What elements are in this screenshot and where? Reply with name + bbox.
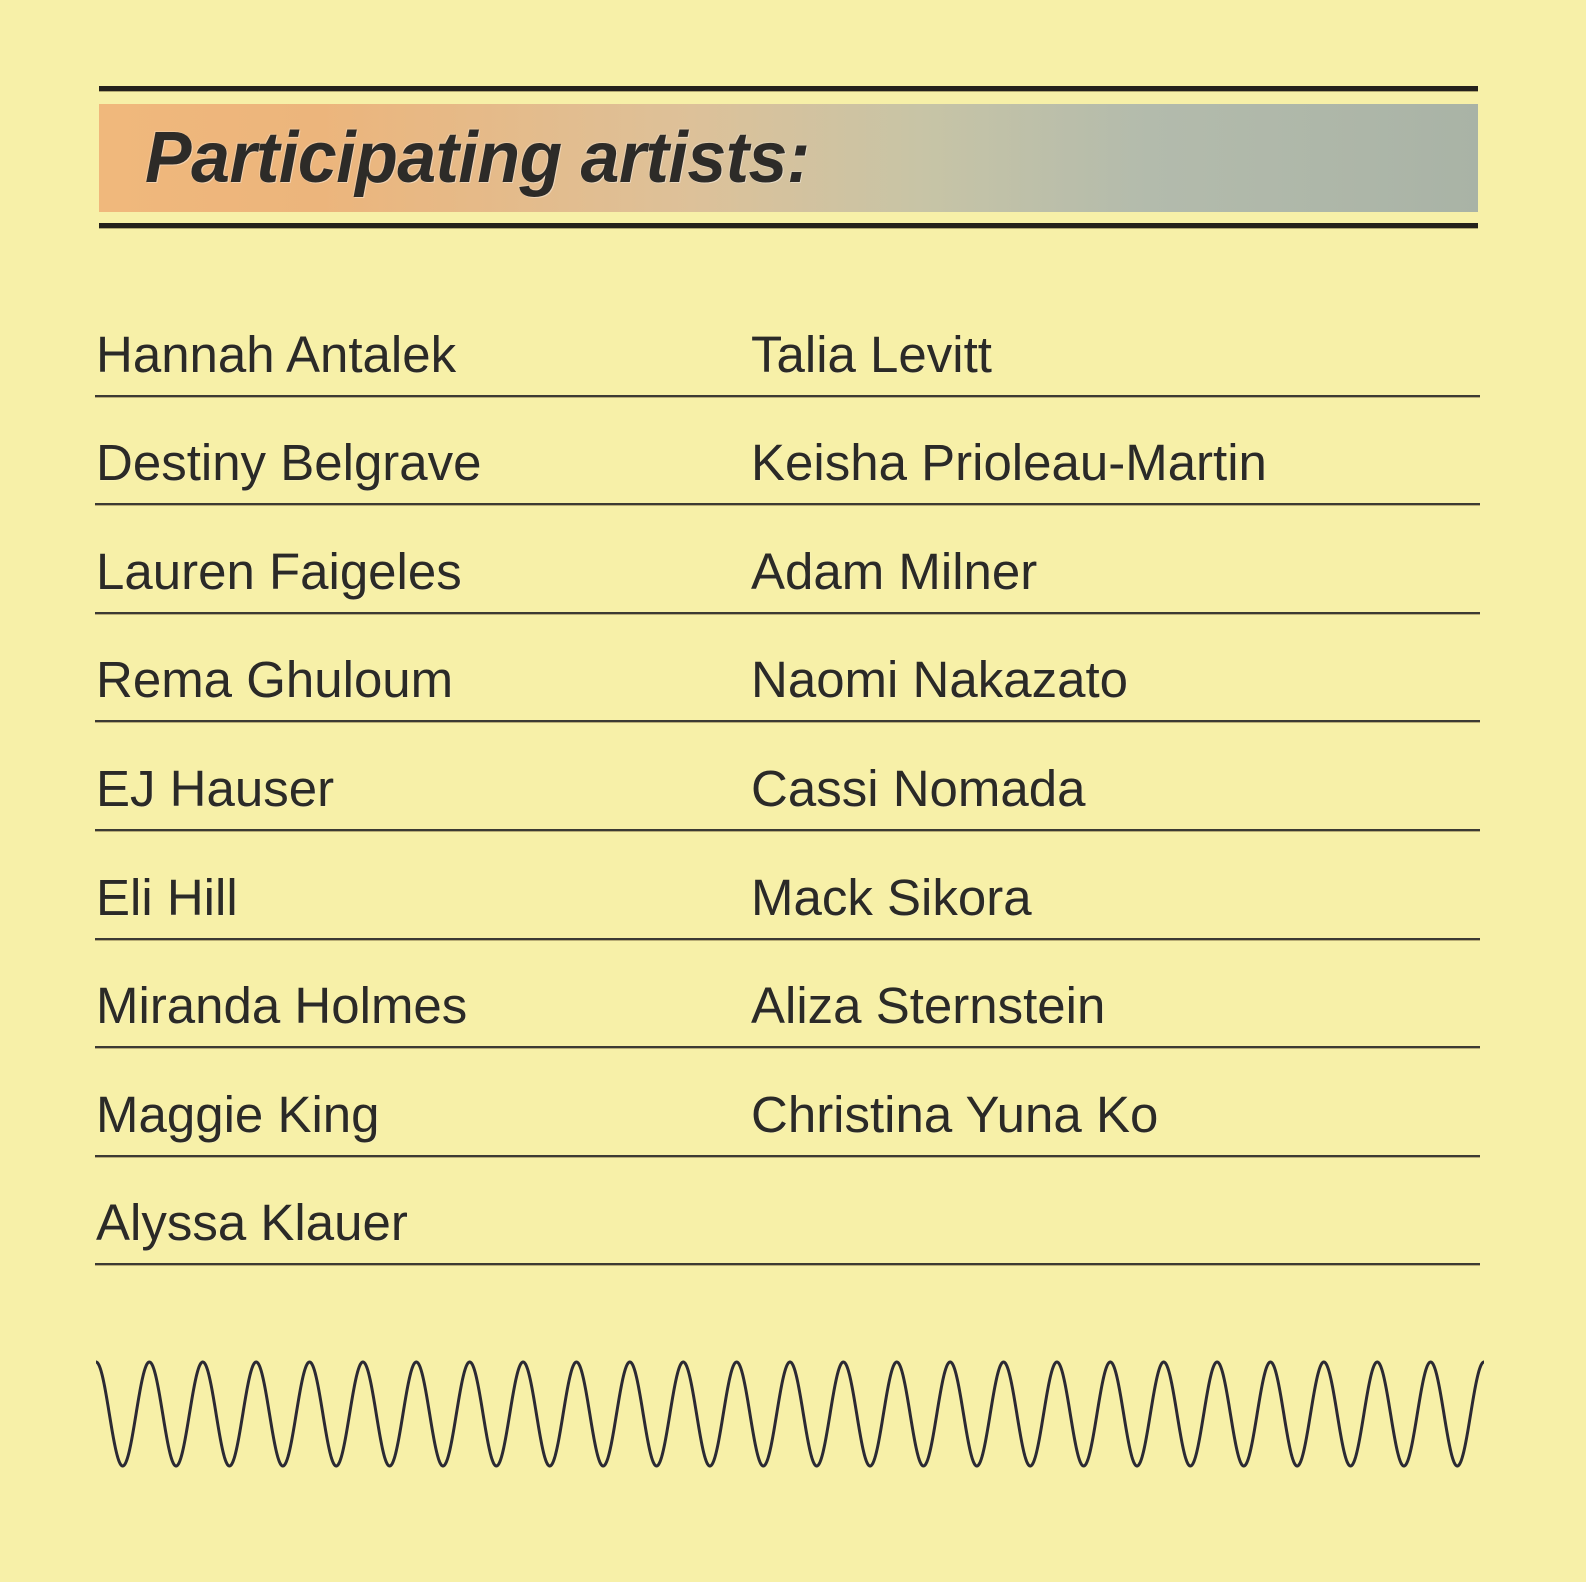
header-rule-top (99, 86, 1478, 91)
page-title: Participating artists: (145, 122, 810, 194)
artist-name: Mack Sikora (751, 872, 1032, 923)
artist-name: Adam Milner (751, 546, 1037, 597)
row-divider (95, 1263, 1480, 1265)
table-row: EJ Hauser Cassi Nomada (0, 722, 1586, 831)
header-block: Participating artists: (99, 86, 1478, 228)
table-row: Miranda Holmes Aliza Sternstein (0, 940, 1586, 1049)
artist-name: Aliza Sternstein (751, 980, 1105, 1031)
artist-name: Cassi Nomada (751, 763, 1085, 814)
table-row: Maggie King Christina Yuna Ko (0, 1048, 1586, 1157)
artist-name: Eli Hill (96, 872, 238, 923)
header-rule-bottom (99, 223, 1478, 228)
artist-list: Hannah Antalek Talia Levitt Destiny Belg… (0, 288, 1586, 1265)
artist-name: Naomi Nakazato (751, 654, 1128, 705)
artist-name: Alyssa Klauer (96, 1197, 408, 1248)
artist-name: Christina Yuna Ko (751, 1089, 1158, 1140)
artist-name: EJ Hauser (96, 763, 334, 814)
header-gradient-bar: Participating artists: (99, 104, 1478, 212)
artist-name: Lauren Faigeles (96, 546, 462, 597)
poster-page: Participating artists: Hannah Antalek Ta… (0, 0, 1586, 1582)
artist-name: Maggie King (96, 1089, 380, 1140)
table-row: Eli Hill Mack Sikora (0, 831, 1586, 940)
sine-wave-divider (96, 1334, 1484, 1494)
artist-name: Rema Ghuloum (96, 654, 453, 705)
artist-name: Talia Levitt (751, 329, 992, 380)
table-row: Destiny Belgrave Keisha Prioleau-Martin (0, 397, 1586, 506)
table-row: Alyssa Klauer (0, 1157, 1586, 1266)
artist-name: Keisha Prioleau-Martin (751, 437, 1267, 488)
artist-name: Destiny Belgrave (96, 437, 482, 488)
artist-name: Miranda Holmes (96, 980, 467, 1031)
table-row: Rema Ghuloum Naomi Nakazato (0, 614, 1586, 723)
table-row: Lauren Faigeles Adam Milner (0, 505, 1586, 614)
artist-name: Hannah Antalek (96, 329, 456, 380)
sine-wave-icon (96, 1334, 1484, 1494)
table-row: Hannah Antalek Talia Levitt (0, 288, 1586, 397)
